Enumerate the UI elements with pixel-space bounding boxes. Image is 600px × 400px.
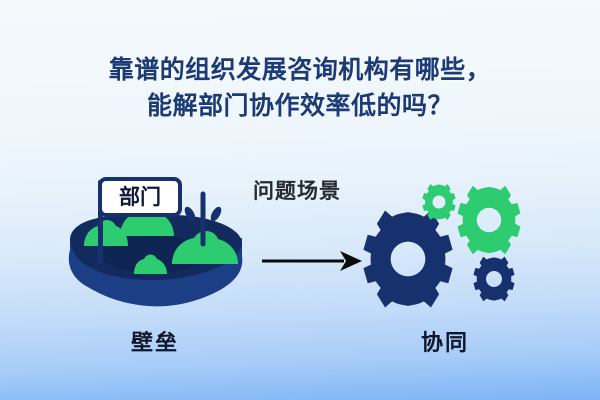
scene-caption-label: 问题场景: [232, 175, 362, 205]
page-title: 靠谱的组织发展咨询机构有哪些， 能解部门协作效率低的吗？: [0, 52, 600, 124]
transition-arrow: [262, 248, 362, 274]
right-concept-label: 协同: [385, 325, 505, 357]
left-concept-label: 壁垒: [95, 325, 215, 357]
page-title-line-2: 能解部门协作效率低的吗？: [0, 88, 600, 124]
gear-small-navy-icon: [473, 257, 514, 302]
gears-illustration: [358, 185, 530, 315]
right-arrow-icon: [262, 251, 362, 271]
poster-canvas: 靠谱的组织发展咨询机构有哪些， 能解部门协作效率低的吗？: [0, 0, 600, 400]
department-sign-label: 部门: [119, 185, 161, 209]
gear-medium-green-icon: [458, 186, 521, 254]
island-illustration: 部门: [62, 178, 252, 313]
gear-large-navy-icon: [363, 211, 452, 308]
page-title-line-1: 靠谱的组织发展咨询机构有哪些，: [0, 52, 600, 88]
